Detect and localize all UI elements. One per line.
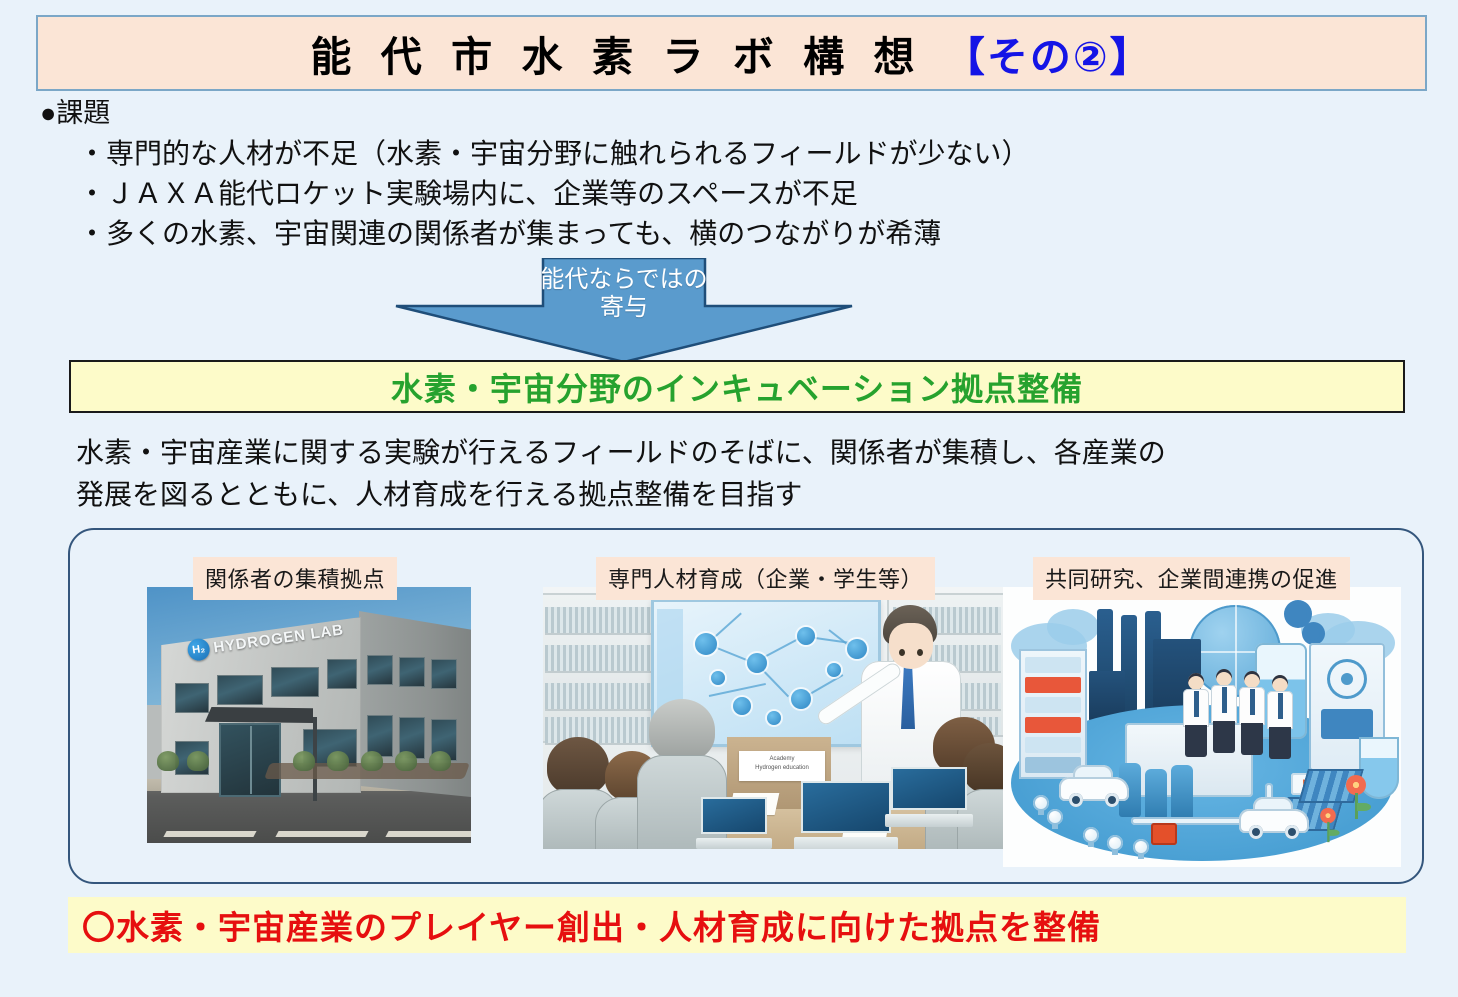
researcher-figure <box>1239 671 1265 755</box>
description-block: 水素・宇宙産業に関する実験が行えるフィールドのそばに、関係者が集積し、各産業の … <box>76 432 1424 516</box>
fuel-cell-car <box>1239 799 1309 839</box>
figure-2-caption: 専門人材育成（企業・学生等） <box>596 557 935 600</box>
window <box>367 655 393 685</box>
shrub <box>429 751 451 771</box>
figure-1-caption: 関係者の集積拠点 <box>193 557 397 600</box>
bulb-icon <box>1107 835 1123 851</box>
slide-canvas: 能 代 市 水 素 ラ ボ 構 想 【その②】 ●課題 ・専門的な人材が不足（水… <box>0 0 1458 997</box>
page-title-main: 能 代 市 水 素 ラ ボ 構 想 <box>310 34 944 80</box>
window <box>399 657 425 687</box>
laptop <box>891 767 967 827</box>
gas-cylinder <box>1171 765 1193 819</box>
issue-item: ・多くの水素、宇宙関連の関係者が集まっても、横のつながりが希薄 <box>40 214 1370 254</box>
shrub <box>187 751 209 771</box>
issues-heading: ●課題 <box>40 96 1370 131</box>
slide-title-box: 能 代 市 水 素 ラ ボ 構 想 【その②】 <box>36 15 1427 91</box>
specialist-training-classroom-illustration: Academy Hydrogen education <box>543 587 1003 849</box>
dashboard-panel <box>1019 649 1087 779</box>
hydrogen-pump <box>1151 823 1177 845</box>
figure-3-caption: 共同研究、企業間連携の促進 <box>1033 557 1350 600</box>
gear-icon <box>1307 627 1320 640</box>
h2-badge-icon: H₂ <box>186 637 211 662</box>
window <box>431 659 457 689</box>
laptop <box>801 781 891 849</box>
parking-stripe <box>275 831 368 837</box>
bulb-icon <box>1083 827 1099 843</box>
contribution-down-arrow: 能代ならではの 寄与 <box>394 258 854 364</box>
issues-list: ・専門的な人材が不足（水素・宇宙分野に触れられるフィールドが少ない） ・ＪＡＸＡ… <box>40 134 1370 255</box>
placard-line-1: Academy <box>739 755 825 764</box>
description-line-1: 水素・宇宙産業に関する実験が行えるフィールドのそばに、関係者が集積し、各産業の <box>76 432 1424 474</box>
shrub <box>293 751 315 771</box>
window <box>327 659 357 689</box>
placard-line-2: Hydrogen education <box>739 764 825 773</box>
parking-stripe <box>163 831 256 837</box>
conclusion-text: 〇水素・宇宙産業のプレイヤー創出・人材育成に向けた拠点を整備 <box>68 901 1101 949</box>
shrub <box>157 751 179 771</box>
researcher-figure <box>1211 669 1237 753</box>
researcher-figure <box>1267 675 1293 759</box>
window <box>271 667 319 697</box>
down-arrow-icon <box>394 258 854 364</box>
shrub <box>361 751 383 771</box>
page-title: 能 代 市 水 素 ラ ボ 構 想 【その②】 <box>310 23 1152 83</box>
hydrogen-lab-building-photo: H₂ HYDROGEN LAB <box>147 587 471 843</box>
bulb-icon <box>1047 809 1063 825</box>
description-line-2: 発展を図るとともに、人材育成を行える拠点整備を目指す <box>76 474 1424 516</box>
laptop <box>701 797 767 849</box>
incubation-headline-text: 水素・宇宙分野のインキュベーション拠点整備 <box>391 364 1083 410</box>
shrub <box>395 751 417 771</box>
face <box>889 623 933 669</box>
researcher-figure <box>1183 673 1209 757</box>
issues-section: ●課題 ・専門的な人材が不足（水素・宇宙分野に触れられるフィールドが少ない） ・… <box>40 96 1370 254</box>
gear-icon <box>1289 605 1307 623</box>
entrance-door <box>219 723 281 797</box>
bulb-icon <box>1133 839 1149 855</box>
shrub <box>327 751 349 771</box>
conclusion-band: 〇水素・宇宙産業のプレイヤー創出・人材育成に向けた拠点を整備 <box>68 897 1406 953</box>
report-thumbnail <box>1321 709 1373 739</box>
issue-item: ・ＪＡＸＡ能代ロケット実験場内に、企業等のスペースが不足 <box>40 174 1370 214</box>
window <box>175 683 209 713</box>
flower-icon <box>1343 775 1369 819</box>
parking-stripe <box>385 831 471 837</box>
entrance-canopy <box>205 707 313 723</box>
window <box>217 675 263 705</box>
page-title-accent: 【その②】 <box>944 34 1153 80</box>
cloud-icon <box>1047 609 1099 645</box>
flower-icon <box>1318 808 1338 842</box>
atom-icon <box>1327 659 1367 699</box>
bulb-icon <box>1033 795 1049 811</box>
issue-item: ・専門的な人材が不足（水素・宇宙分野に触れられるフィールドが少ない） <box>40 134 1370 174</box>
joint-research-industry-collaboration-illustration: H2 <box>1003 587 1401 867</box>
gas-cylinder <box>1145 769 1167 819</box>
academy-placard: Academy Hydrogen education <box>739 751 825 781</box>
incubation-headline-band: 水素・宇宙分野のインキュベーション拠点整備 <box>69 360 1405 413</box>
fuel-cell-car <box>1059 767 1129 807</box>
